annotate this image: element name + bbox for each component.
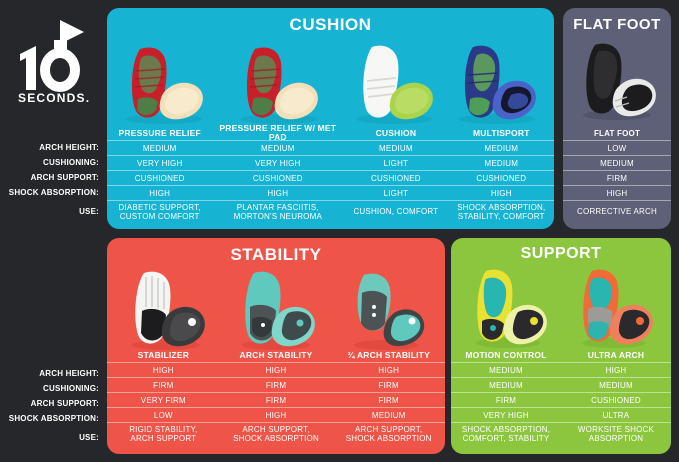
cell-cushioning: MEDIUM (561, 378, 671, 393)
cell-shock-absorption: HIGH (563, 186, 671, 201)
table-row-shock-absorption: HIGH (563, 185, 671, 200)
cell-arch-height: MEDIUM (449, 141, 554, 156)
brand-sub-label: SECONDS. (18, 91, 90, 104)
cell-shock-absorption: VERY HIGH (451, 408, 561, 423)
cell-arch-height: MEDIUM (451, 363, 561, 378)
cell-cushioning: FIRM (220, 378, 333, 393)
cell-arch-support: VERY FIRM (107, 393, 220, 408)
row-label-cushioning: CUSHIONING: (0, 155, 105, 170)
product-name-pressure-relief: PRESSURE RELIEF (107, 126, 212, 141)
cell-arch-support: FIRM (451, 393, 561, 408)
row-label-arch-height-2: ARCH HEIGHT: (0, 366, 105, 381)
cell-use: RIGID STABILITY, ARCH SUPPORT (107, 422, 220, 446)
table-row-arch-support: VERY FIRM FIRM FIRM (107, 392, 445, 407)
table-row-arch-height: MEDIUM MEDIUM MEDIUM MEDIUM (107, 140, 554, 155)
table-row-names: FLAT FOOT (563, 126, 671, 140)
insole-pair-icon (120, 267, 212, 351)
row-label-shock-absorption-2: SHOCK ABSORPTION: (0, 411, 105, 426)
insole-pair-icon (230, 267, 322, 351)
panel-title-flat-foot: FLAT FOOT (563, 8, 671, 33)
table-row-names: STABILIZER ARCH STABILITY ¾ ARCH STABILI… (107, 348, 445, 362)
row-labels-bottom: ARCH HEIGHT: CUSHIONING: ARCH SUPPORT: S… (0, 366, 105, 448)
insole-pressure-relief (113, 35, 215, 125)
insole-multisport (446, 35, 548, 125)
support-data-table: MOTION CONTROL ULTRA ARCH MEDIUM HIGH ME… (451, 348, 671, 444)
insole-pair-icon (451, 39, 543, 125)
cell-arch-height: LOW (563, 141, 671, 156)
cell-use: DIABETIC SUPPORT, CUSTOM COMFORT (107, 200, 212, 224)
cell-shock-absorption: HIGH (107, 186, 212, 201)
table-row-shock-absorption: LOW HIGH MEDIUM (107, 407, 445, 422)
table-row-arch-height: MEDIUM HIGH (451, 362, 671, 377)
cell-arch-height: HIGH (561, 363, 671, 378)
cell-arch-height: MEDIUM (212, 141, 343, 156)
insole-pressure-relief-met-pad (215, 35, 343, 125)
insole-motion-control (455, 263, 561, 349)
row-label-shock-absorption: SHOCK ABSORPTION: (0, 185, 105, 200)
cell-cushioning: FIRM (332, 378, 445, 393)
cell-shock-absorption: LOW (107, 408, 220, 423)
table-row-cushioning: MEDIUM (563, 155, 671, 170)
row-label-arch-support-2: ARCH SUPPORT: (0, 396, 105, 411)
table-row-cushioning: VERY HIGH VERY HIGH LIGHT MEDIUM (107, 155, 554, 170)
product-name-ultra-arch: ULTRA ARCH (561, 348, 671, 363)
cushion-product-images (107, 35, 554, 125)
cell-arch-height: HIGH (332, 363, 445, 378)
table-row-use: DIABETIC SUPPORT, CUSTOM COMFORT PLANTAR… (107, 200, 554, 222)
table-row-cushioning: MEDIUM MEDIUM (451, 377, 671, 392)
ten-seconds-logo-icon: SECONDS. (14, 18, 98, 104)
insole-ultra-arch (561, 263, 667, 349)
panel-title-stability: STABILITY (107, 238, 445, 265)
cell-arch-height: HIGH (107, 363, 220, 378)
product-name-stabilizer: STABILIZER (107, 348, 220, 363)
cell-arch-support: CUSHIONED (561, 393, 671, 408)
stability-product-images (107, 265, 445, 351)
insole-comparison-chart: SECONDS. ARCH HEIGHT: CUSHIONING: ARCH S… (0, 0, 679, 462)
table-row-arch-support: FIRM (563, 170, 671, 185)
table-row-arch-height: HIGH HIGH HIGH (107, 362, 445, 377)
panel-support: SUPPORT (451, 238, 671, 454)
cell-use: SHOCK ABSORPTION, STABILITY, COMFORT (449, 200, 554, 224)
insole-pair-icon (462, 265, 554, 349)
table-row-arch-support: CUSHIONED CUSHIONED CUSHIONED CUSHIONED (107, 170, 554, 185)
panel-stability: STABILITY (107, 238, 445, 454)
table-row-arch-support: FIRM CUSHIONED (451, 392, 671, 407)
table-row-use: RIGID STABILITY, ARCH SUPPORT ARCH SUPPO… (107, 422, 445, 444)
insole-pair-icon (571, 37, 663, 121)
insole-cushion (343, 35, 445, 125)
cell-arch-height: MEDIUM (343, 141, 448, 156)
cell-shock-absorption: MEDIUM (332, 408, 445, 423)
table-row-names: MOTION CONTROL ULTRA ARCH (451, 348, 671, 362)
panel-title-support: SUPPORT (451, 238, 671, 263)
table-row-use: SHOCK ABSORPTION, COMFORT, STABILITY WOR… (451, 422, 671, 444)
cell-cushioning: MEDIUM (449, 156, 554, 171)
row-label-use-2: USE: (0, 426, 105, 448)
cell-arch-height: HIGH (220, 363, 333, 378)
cell-shock-absorption: HIGH (220, 408, 333, 423)
insole-three-quarter-arch-stability (331, 265, 441, 351)
table-row-arch-height: LOW (563, 140, 671, 155)
row-labels-top: ARCH HEIGHT: CUSHIONING: ARCH SUPPORT: S… (0, 140, 105, 222)
brand-logo: SECONDS. (14, 18, 98, 104)
product-name-cushion: CUSHION (343, 126, 448, 141)
cell-use: CORRECTIVE ARCH (563, 204, 671, 219)
product-name-three-quarter-arch: ¾ ARCH STABILITY (332, 348, 445, 363)
cell-shock-absorption: HIGH (449, 186, 554, 201)
cell-use: PLANTAR FASCIITIS, MORTON'S NEUROMA (212, 200, 343, 224)
cell-cushioning: MEDIUM (563, 156, 671, 171)
row-label-arch-support: ARCH SUPPORT: (0, 170, 105, 185)
insole-arch-stability (221, 265, 331, 351)
stability-data-table: STABILIZER ARCH STABILITY ¾ ARCH STABILI… (107, 348, 445, 444)
panel-title-cushion: CUSHION (107, 8, 554, 35)
insole-pair-icon (118, 39, 210, 125)
cell-arch-support: CUSHIONED (449, 171, 554, 186)
product-name-flat-foot: FLAT FOOT (563, 126, 671, 141)
cell-use: CUSHION, COMFORT (343, 204, 448, 219)
cell-shock-absorption: LIGHT (343, 186, 448, 201)
cell-use: SHOCK ABSORPTION, COMFORT, STABILITY (451, 422, 561, 446)
cell-arch-support: CUSHIONED (343, 171, 448, 186)
table-row-cushioning: FIRM FIRM FIRM (107, 377, 445, 392)
cell-use: ARCH SUPPORT, SHOCK ABSORPTION (332, 422, 445, 446)
insole-stabilizer (111, 265, 221, 351)
cell-cushioning: MEDIUM (451, 378, 561, 393)
row-label-cushioning-2: CUSHIONING: (0, 381, 105, 396)
table-row-shock-absorption: HIGH HIGH LIGHT HIGH (107, 185, 554, 200)
cell-use: WORKSITE SHOCK ABSORPTION (561, 422, 671, 446)
table-row-use: CORRECTIVE ARCH (563, 200, 671, 222)
cell-arch-support: FIRM (563, 171, 671, 186)
cell-arch-support: FIRM (220, 393, 333, 408)
insole-pair-icon (233, 39, 325, 125)
insole-pair-icon (340, 267, 432, 351)
insole-pair-icon (568, 265, 660, 349)
cell-arch-height: MEDIUM (107, 141, 212, 156)
cell-cushioning: LIGHT (343, 156, 448, 171)
product-name-motion-control: MOTION CONTROL (451, 348, 561, 363)
table-row-names: PRESSURE RELIEF PRESSURE RELIEF W/ MET P… (107, 126, 554, 140)
insole-pair-icon (348, 39, 440, 125)
panel-cushion: CUSHION (107, 8, 554, 229)
table-row-shock-absorption: VERY HIGH ULTRA (451, 407, 671, 422)
panel-flat-foot: FLAT FOOT FLAT FOOT LOW ME (563, 8, 671, 229)
cushion-data-table: PRESSURE RELIEF PRESSURE RELIEF W/ MET P… (107, 126, 554, 222)
flatfoot-data-table: FLAT FOOT LOW MEDIUM FIRM HIGH CORRECTIV… (563, 126, 671, 222)
support-product-images (451, 263, 671, 349)
cell-cushioning: VERY HIGH (212, 156, 343, 171)
cell-shock-absorption: ULTRA (561, 408, 671, 423)
cell-arch-support: CUSHIONED (212, 171, 343, 186)
cell-cushioning: VERY HIGH (107, 156, 212, 171)
cell-shock-absorption: HIGH (212, 186, 343, 201)
row-label-arch-height: ARCH HEIGHT: (0, 140, 105, 155)
cell-arch-support: FIRM (332, 393, 445, 408)
cell-arch-support: CUSHIONED (107, 171, 212, 186)
cell-use: ARCH SUPPORT, SHOCK ABSORPTION (220, 422, 333, 446)
flatfoot-product-images (563, 33, 671, 121)
product-name-arch-stability: ARCH STABILITY (220, 348, 333, 363)
row-label-use: USE: (0, 200, 105, 222)
product-name-multisport: MULTISPORT (449, 126, 554, 141)
insole-flat-foot (563, 33, 671, 121)
cell-cushioning: FIRM (107, 378, 220, 393)
